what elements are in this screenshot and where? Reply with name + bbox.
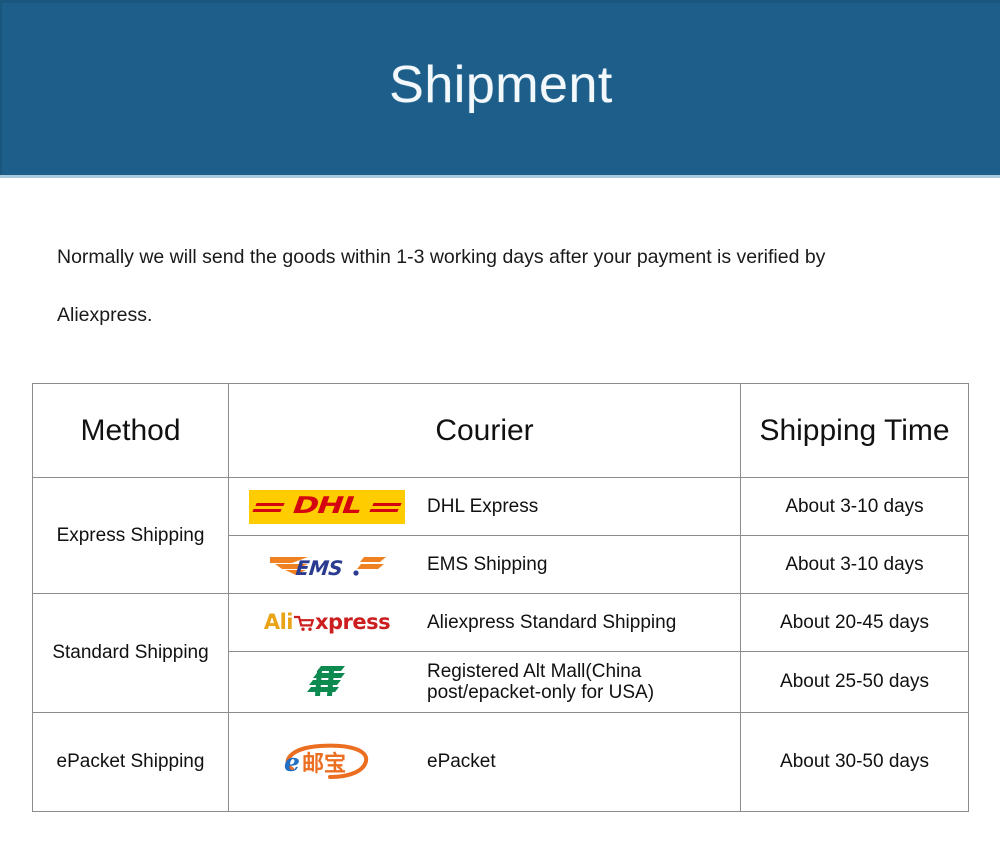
logo-slot — [229, 662, 425, 702]
dhl-speed-line — [252, 509, 281, 512]
banner-underline — [0, 175, 1000, 178]
cell-method-standard: Standard Shipping — [33, 594, 229, 713]
dhl-speed-line — [369, 509, 398, 512]
page-title: Shipment — [389, 59, 613, 111]
cell-courier-dhl: DHL DHL Express — [229, 478, 741, 536]
aliexpress-logo: Ali xpress — [264, 612, 390, 633]
epacket-logo: e 邮宝 — [275, 740, 379, 784]
cell-time: About 3-10 days — [741, 536, 969, 594]
cell-method-epacket: ePacket Shipping — [33, 713, 229, 812]
cell-time: About 20-45 days — [741, 594, 969, 652]
shipment-page: Shipment Normally we will send the goods… — [0, 0, 1000, 859]
cell-method-express: Express Shipping — [33, 478, 229, 594]
dhl-speed-line — [372, 503, 401, 506]
shopping-cart-icon — [294, 614, 314, 632]
svg-text:EMS: EMS — [295, 556, 344, 580]
page-banner: Shipment — [0, 0, 1000, 175]
logo-slot: DHL — [229, 490, 425, 524]
courier-name-line-1: Registered Alt Mall(China — [427, 661, 654, 682]
cell-time: About 25-50 days — [741, 652, 969, 713]
china-post-logo-svg — [305, 662, 349, 702]
cell-time: About 30-50 days — [741, 713, 969, 812]
table-row: Express Shipping DHL DHL Exp — [33, 478, 969, 536]
dhl-logo-text: DHL — [292, 495, 362, 518]
logo-slot: EMS — [229, 548, 425, 582]
table-row: Standard Shipping Ali — [33, 594, 969, 652]
courier-name: Aliexpress Standard Shipping — [425, 612, 676, 633]
shipping-table: Method Courier Shipping Time Express Shi… — [32, 383, 969, 812]
cell-courier-epacket: e 邮宝 ePacket — [229, 713, 741, 812]
logo-slot: Ali xpress — [229, 612, 425, 633]
cell-courier-aliexpress: Ali xpress — [229, 594, 741, 652]
header-method: Method — [33, 384, 229, 478]
cell-courier-china-post: Registered Alt Mall(China post/epacket-o… — [229, 652, 741, 713]
china-post-logo — [304, 662, 350, 702]
dhl-speed-line — [255, 503, 284, 506]
table-row: ePacket Shipping e 邮宝 e — [33, 713, 969, 812]
header-courier: Courier — [229, 384, 741, 478]
intro-line-1: Normally we will send the goods within 1… — [57, 228, 957, 286]
courier-name: EMS Shipping — [425, 554, 547, 575]
courier-name: ePacket — [425, 751, 496, 772]
aliexpress-logo-text-xpress: xpress — [315, 612, 390, 633]
intro-paragraph: Normally we will send the goods within 1… — [57, 228, 957, 344]
svg-text:邮宝: 邮宝 — [302, 751, 346, 777]
logo-slot: e 邮宝 — [229, 740, 425, 784]
header-time: Shipping Time — [741, 384, 969, 478]
table-header-row: Method Courier Shipping Time — [33, 384, 969, 478]
aliexpress-logo-text-ali: Ali — [264, 612, 293, 633]
svg-text:e: e — [284, 748, 300, 777]
courier-name: DHL Express — [425, 496, 538, 517]
intro-line-2: Aliexpress. — [57, 286, 957, 344]
courier-name-line-2: post/epacket-only for USA) — [427, 682, 654, 703]
ems-logo-svg: EMS — [268, 548, 386, 582]
cell-courier-ems: EMS EMS Shipping — [229, 536, 741, 594]
epacket-logo-svg: e 邮宝 — [276, 739, 378, 785]
ems-logo: EMS — [267, 548, 387, 582]
cell-time: About 3-10 days — [741, 478, 969, 536]
courier-name: Registered Alt Mall(China post/epacket-o… — [425, 661, 654, 704]
dhl-logo: DHL — [249, 490, 405, 524]
